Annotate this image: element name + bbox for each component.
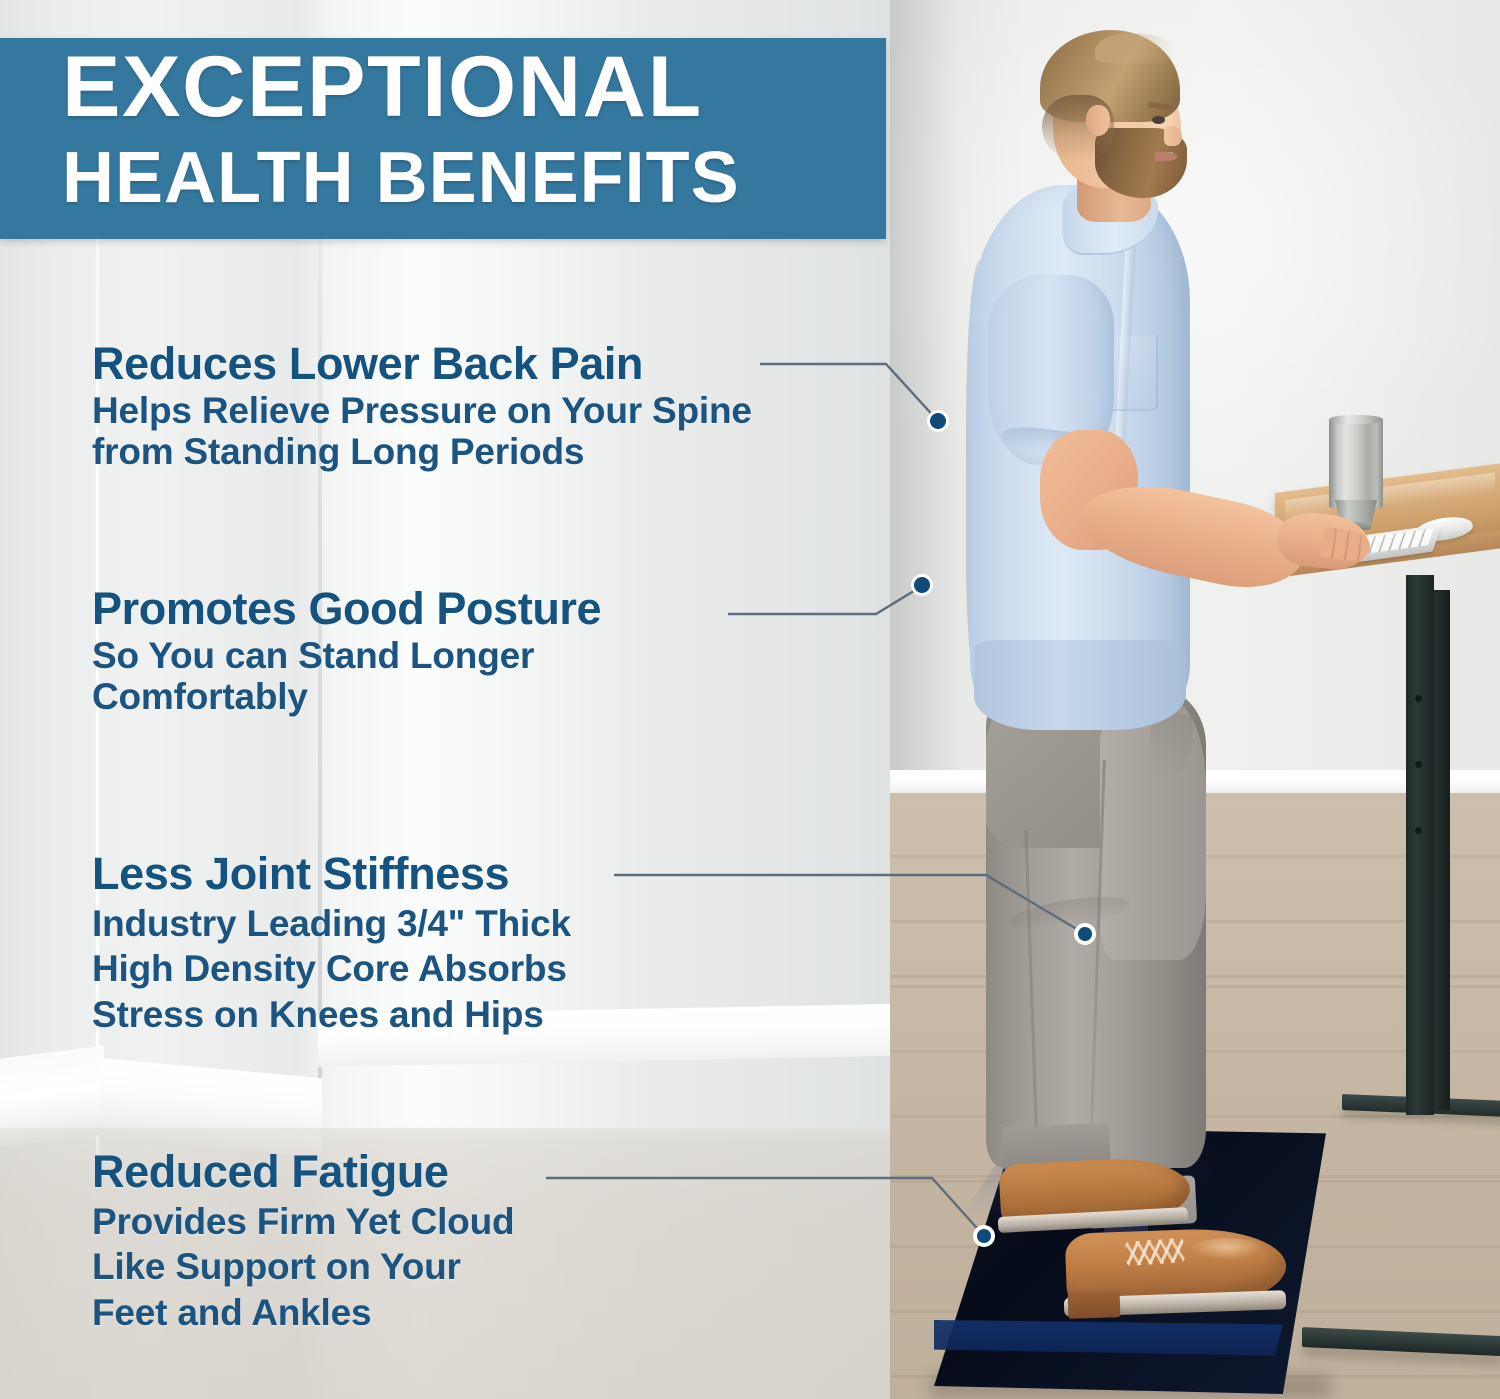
shoe-laces-cross [1125,1238,1185,1266]
benefit-title: Promotes Good Posture [92,586,601,632]
desk-leg-column-inner [1434,590,1450,1110]
shoe-highlight [1190,1238,1264,1260]
desk-leg-column [1406,575,1434,1115]
shirt-hem [974,640,1186,730]
tumbler-body [1329,418,1383,508]
mouth [1155,152,1177,161]
ear [1086,105,1110,136]
benefit-title: Less Joint Stiffness [92,851,571,897]
product-photo [890,0,1500,1399]
leg-bolt-icon [1415,827,1422,834]
banner-title-line-1: EXCEPTIONAL [62,44,898,130]
benefit-block-promotes-good-posture: Promotes Good Posture So You can Stand L… [92,586,601,717]
wall-shadow [890,0,960,790]
leg-bolt-icon [1415,695,1422,702]
hair-part [1095,33,1173,63]
tumbler-rim [1329,415,1383,424]
nose [1164,126,1182,146]
shoe-front-heel [1068,1291,1121,1319]
benefit-block-less-joint-stiffness: Less Joint Stiffness Industry Leading 3/… [92,851,571,1037]
benefit-title: Reduced Fatigue [92,1149,514,1195]
eye [1152,116,1165,124]
benefit-title: Reduces Lower Back Pain [92,341,752,387]
benefit-description: Industry Leading 3/4" Thick High Density… [92,901,571,1038]
benefit-block-reduces-lower-back-pain: Reduces Lower Back Pain Helps Relieve Pr… [92,341,752,472]
benefit-description: Helps Relieve Pressure on Your Spine fro… [92,391,752,472]
benefit-description: Provides Firm Yet Cloud Like Support on … [92,1199,514,1336]
benefit-block-reduced-fatigue: Reduced Fatigue Provides Firm Yet Cloud … [92,1149,514,1335]
title-banner: EXCEPTIONAL HEALTH BENEFITS [0,38,886,239]
banner-title-line-2: HEALTH BENEFITS [62,142,882,214]
infographic-canvas: EXCEPTIONAL HEALTH BENEFITS Reduces Lowe… [0,0,1500,1399]
benefit-description: So You can Stand Longer Comfortably [92,636,601,717]
leg-bolt-icon [1415,761,1422,768]
